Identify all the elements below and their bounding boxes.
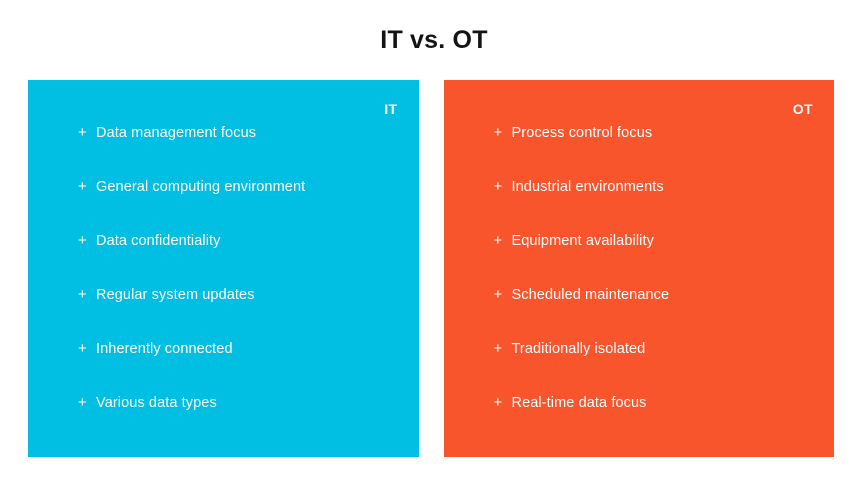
- plus-icon: +: [494, 178, 512, 196]
- list-item-label: Real-time data focus: [512, 394, 835, 412]
- list-item: + Industrial environments: [444, 178, 835, 232]
- list-item-label: Process control focus: [512, 124, 835, 142]
- plus-icon: +: [78, 340, 96, 358]
- plus-icon: +: [78, 124, 96, 142]
- list-item-label: Equipment availability: [512, 232, 835, 250]
- list-item: + Data confidentiality: [28, 232, 419, 286]
- plus-icon: +: [494, 340, 512, 358]
- list-item: + Regular system updates: [28, 286, 419, 340]
- list-item: + Real-time data focus: [444, 394, 835, 448]
- plus-icon: +: [494, 394, 512, 412]
- page-title: IT vs. OT: [0, 24, 868, 56]
- list-item: + General computing environment: [28, 178, 419, 232]
- panel-it-list: + Data management focus + General comput…: [28, 124, 419, 448]
- list-item-label: Data management focus: [96, 124, 419, 142]
- comparison-panels: IT + Data management focus + General com…: [28, 80, 834, 457]
- list-item-label: General computing environment: [96, 178, 419, 196]
- panel-it: IT + Data management focus + General com…: [28, 80, 419, 457]
- plus-icon: +: [78, 394, 96, 412]
- list-item-label: Data confidentiality: [96, 232, 419, 250]
- plus-icon: +: [494, 232, 512, 250]
- plus-icon: +: [78, 178, 96, 196]
- list-item-label: Inherently connected: [96, 340, 419, 358]
- list-item: + Equipment availability: [444, 232, 835, 286]
- list-item: + Various data types: [28, 394, 419, 448]
- list-item: + Traditionally isolated: [444, 340, 835, 394]
- plus-icon: +: [78, 232, 96, 250]
- list-item: + Process control focus: [444, 124, 835, 178]
- plus-icon: +: [494, 286, 512, 304]
- list-item: + Inherently connected: [28, 340, 419, 394]
- list-item: + Data management focus: [28, 124, 419, 178]
- list-item-label: Scheduled maintenance: [512, 286, 835, 304]
- plus-icon: +: [78, 286, 96, 304]
- panel-ot: OT + Process control focus + Industrial …: [444, 80, 835, 457]
- list-item-label: Regular system updates: [96, 286, 419, 304]
- list-item-label: Various data types: [96, 394, 419, 412]
- list-item-label: Traditionally isolated: [512, 340, 835, 358]
- panel-it-label: IT: [384, 101, 397, 117]
- panel-ot-list: + Process control focus + Industrial env…: [444, 124, 835, 448]
- list-item: + Scheduled maintenance: [444, 286, 835, 340]
- slide-canvas: IT vs. OT IT + Data management focus + G…: [0, 0, 868, 488]
- list-item-label: Industrial environments: [512, 178, 835, 196]
- panel-ot-label: OT: [793, 101, 813, 117]
- plus-icon: +: [494, 124, 512, 142]
